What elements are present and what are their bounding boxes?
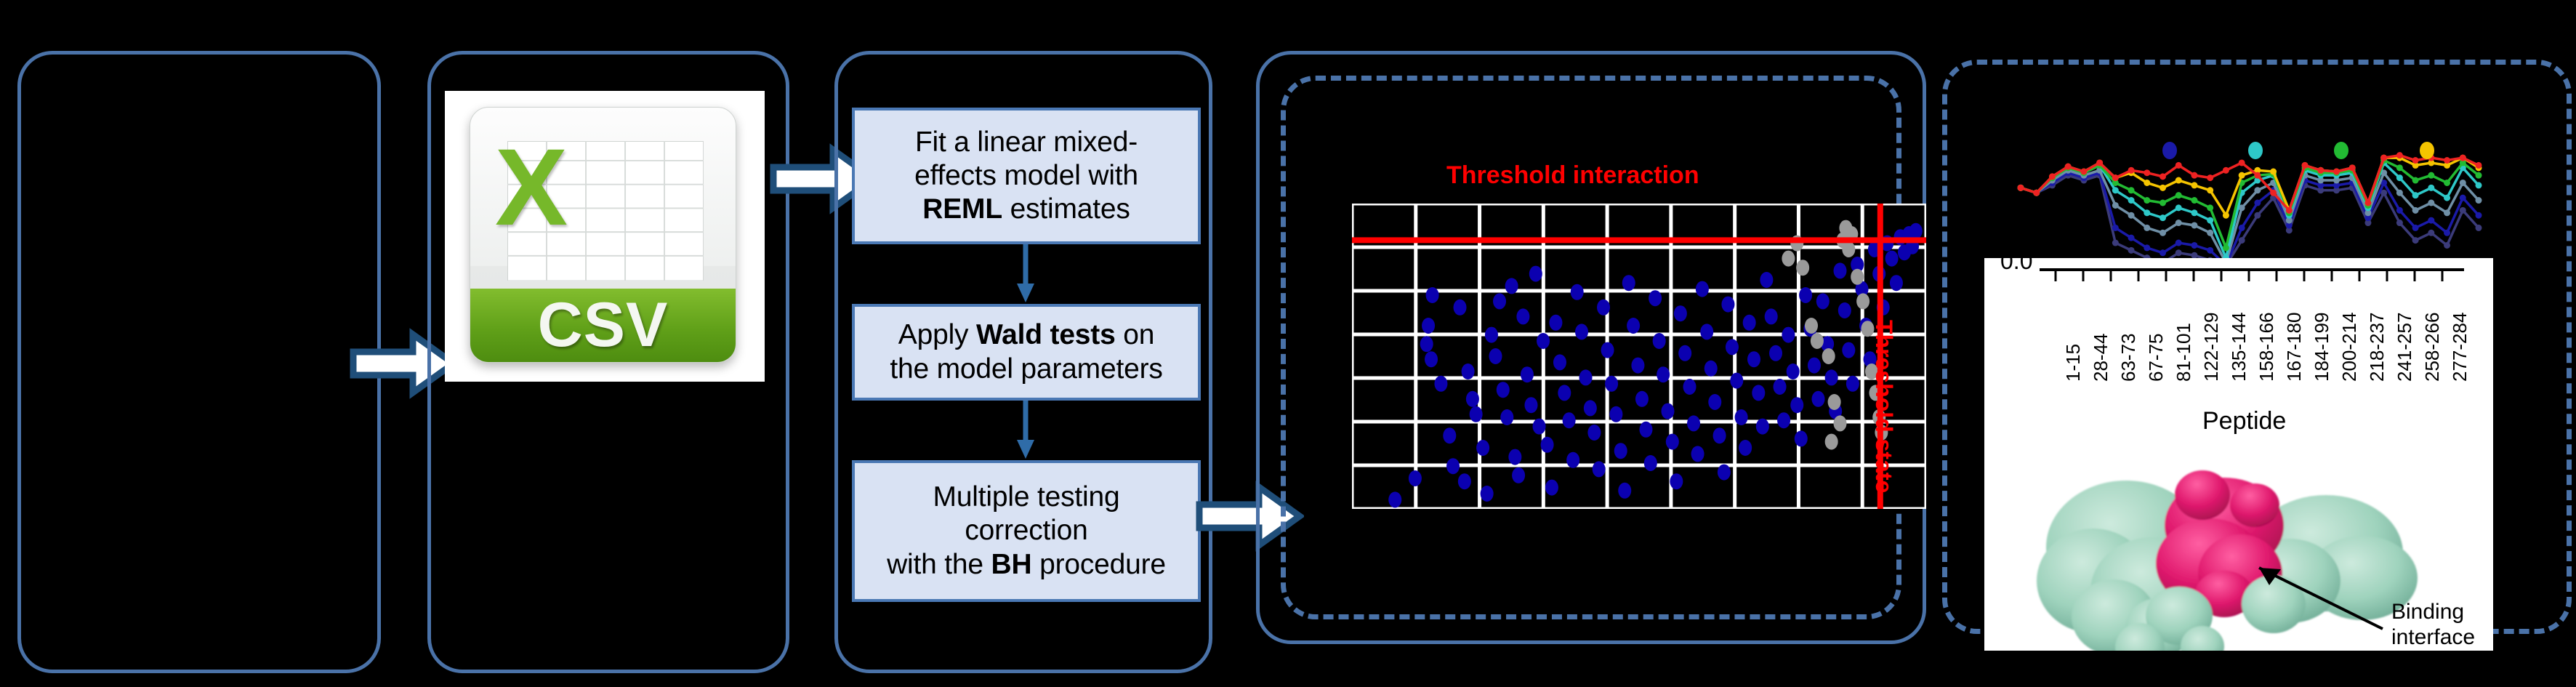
csv-format-label: CSV <box>538 294 669 356</box>
peptide-tick-13: 241-257 <box>2394 313 2416 382</box>
step-wald-tests[interactable]: Apply Wald tests on the model parameters <box>852 304 1201 401</box>
step-3-line-1: Multiple testing <box>933 481 1120 513</box>
csv-letter: X <box>495 132 568 241</box>
peptide-tick-1: 1-15 <box>2062 344 2085 382</box>
step-3-prefix: with the <box>887 549 991 580</box>
step-1-bold: REML <box>922 193 1002 225</box>
input-stage-panel[interactable] <box>17 51 381 673</box>
step-3-bold: BH <box>991 549 1032 580</box>
peptide-tick-12: 218-237 <box>2366 313 2388 382</box>
peptide-tick-7: 135-144 <box>2228 313 2250 382</box>
csv-format-band: CSV <box>470 289 736 363</box>
step-2-prefix: Apply <box>898 319 976 350</box>
step-3-line-2: correction <box>965 515 1087 546</box>
step-2-suffix: on <box>1116 319 1155 350</box>
peptide-tick-5: 81-101 <box>2173 323 2195 382</box>
threshold-state-label: Threshold state <box>1870 320 1897 493</box>
binding-interface-line-2: interface <box>2391 625 2475 651</box>
peptide-tick-15: 277-284 <box>2449 313 2471 382</box>
arrow-wald-to-bh <box>1015 401 1037 460</box>
csv-file-icon[interactable]: X CSV <box>470 107 736 363</box>
binding-interface-annotation: Binding interface <box>2391 600 2475 650</box>
peptide-tick-2: 28-44 <box>2090 334 2112 382</box>
step-multiple-testing[interactable]: Multiple testing correction with the BH … <box>852 460 1201 602</box>
step-1-line-1: Fit a linear mixed- <box>915 126 1138 158</box>
excel-x-icon: X <box>478 121 584 253</box>
peptide-tick-8: 158-166 <box>2255 313 2278 382</box>
peptide-tick-4: 67-75 <box>2145 334 2168 382</box>
binding-interface-line-1: Binding <box>2391 600 2475 625</box>
peptide-profile-chart[interactable] <box>1992 134 2500 273</box>
step-2-line-2: the model parameters <box>890 353 1162 385</box>
step-2-bold: Wald tests <box>976 319 1116 350</box>
peptide-tick-10: 184-199 <box>2311 313 2333 382</box>
peptide-tick-3: 63-73 <box>2117 334 2140 382</box>
peptide-structure-card: 0.0 1-1528-4463-7367-7581-101122-129135-… <box>1984 258 2493 651</box>
step-1-line-3-tail: estimates <box>1010 193 1130 225</box>
peptide-axis <box>1984 267 2493 286</box>
peptide-tick-9: 167-180 <box>2283 313 2306 382</box>
arrow-model-to-wald <box>1015 244 1037 304</box>
peptide-axis-title: Peptide <box>2202 407 2286 435</box>
threshold-scatter-plot[interactable] <box>1352 204 1926 509</box>
step-1-line-2: effects model with <box>914 160 1138 191</box>
step-3-suffix: procedure <box>1031 549 1165 580</box>
step-fit-model[interactable]: Fit a linear mixed- effects model with R… <box>852 108 1201 244</box>
peptide-tick-11: 200-214 <box>2338 313 2361 382</box>
threshold-interaction-label: Threshold interaction <box>1446 161 1699 190</box>
csv-icon-frame: X CSV <box>445 91 765 382</box>
peptide-tick-6: 122-129 <box>2200 313 2223 382</box>
peptide-tick-14: 258-266 <box>2421 313 2444 382</box>
